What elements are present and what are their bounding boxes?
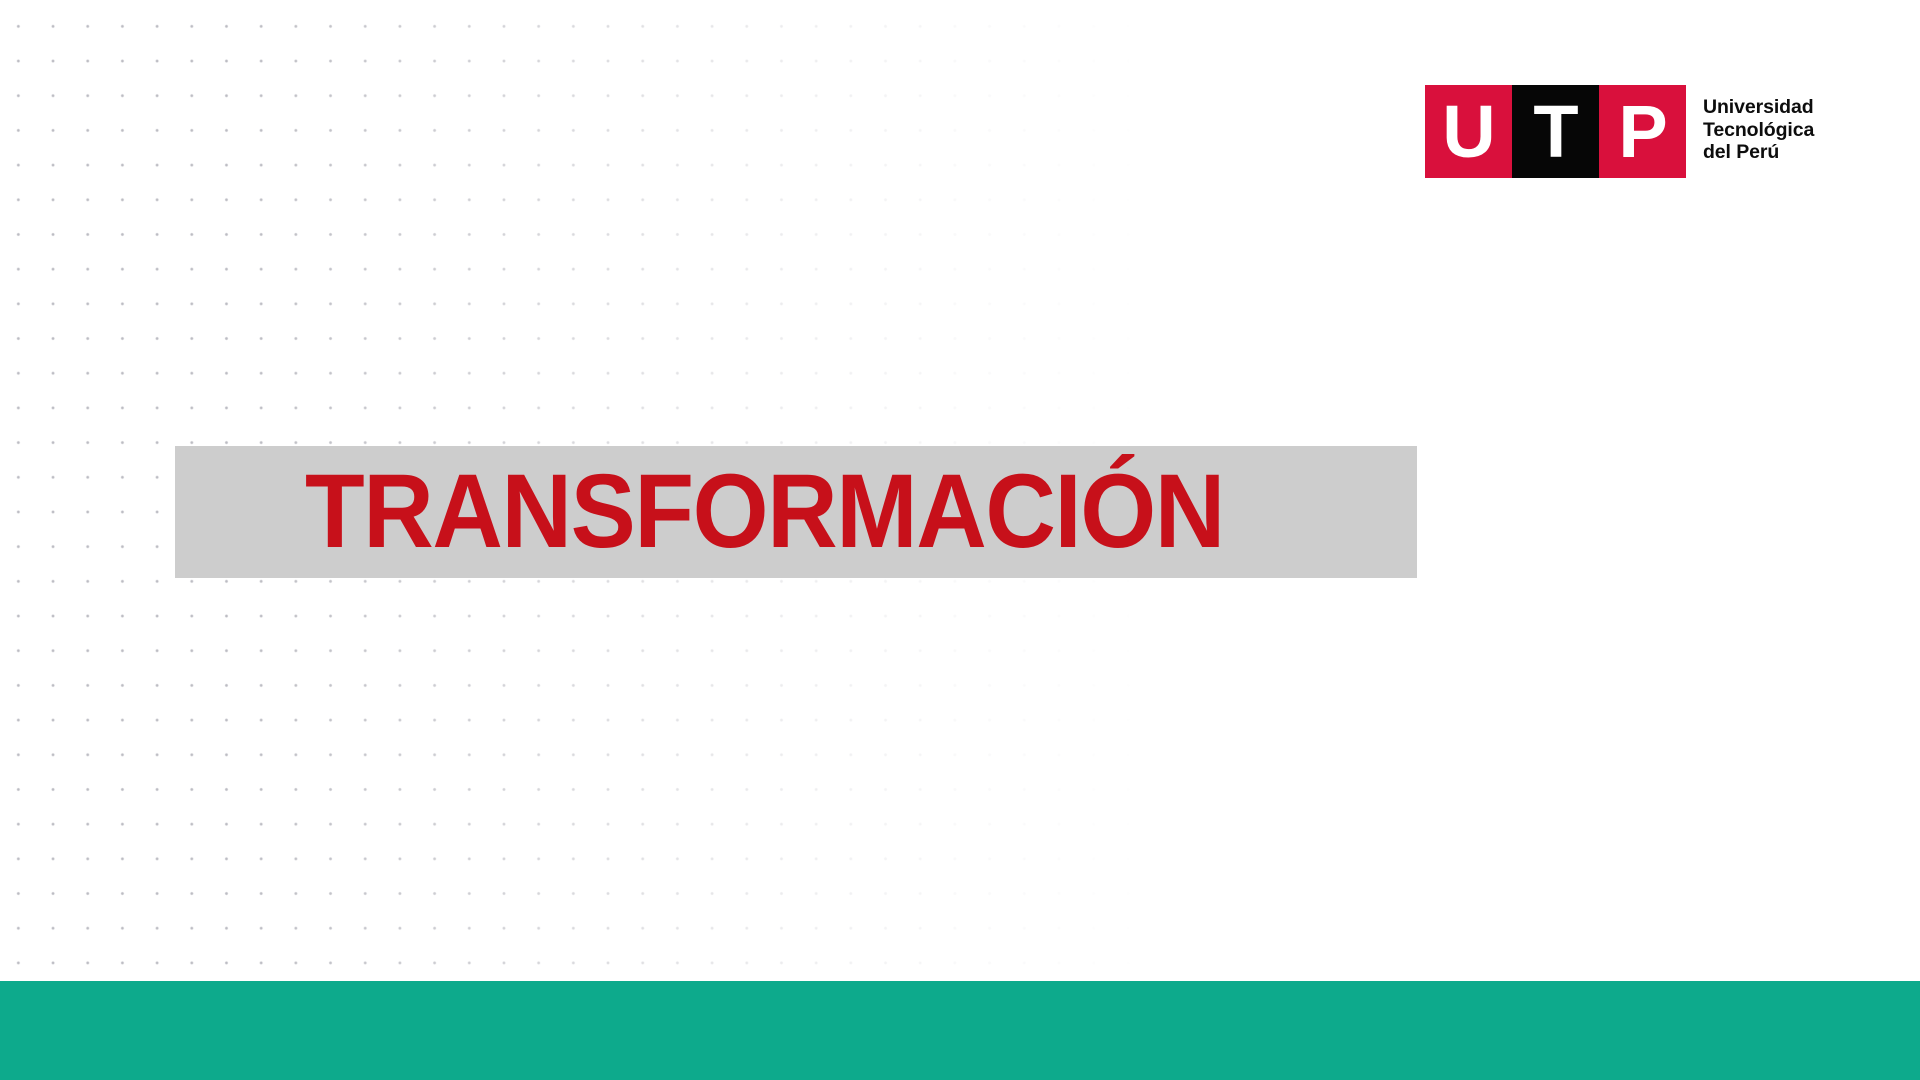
slide-title: TRANSFORMACIÓN: [305, 452, 1291, 572]
wordmark-line-universidad: Universidad: [1703, 96, 1814, 119]
utp-logo-wordmark: Universidad Tecnológica del Perú: [1703, 96, 1814, 164]
utp-logo-block-t: T: [1512, 85, 1599, 178]
wordmark-line-del-peru: del Perú: [1703, 141, 1814, 164]
wordmark-line-tecnologica: Tecnológica: [1703, 119, 1814, 142]
utp-logo-block-u: U: [1425, 85, 1512, 178]
utp-logo-block-p: P: [1599, 85, 1686, 178]
footer-accent-bar: [0, 981, 1920, 1080]
utp-logo-blocks: U T P: [1425, 85, 1686, 178]
presentation-slide: U T P Universidad Tecnológica del Perú T…: [0, 0, 1920, 1080]
utp-logo: U T P Universidad Tecnológica del Perú: [1425, 85, 1814, 178]
